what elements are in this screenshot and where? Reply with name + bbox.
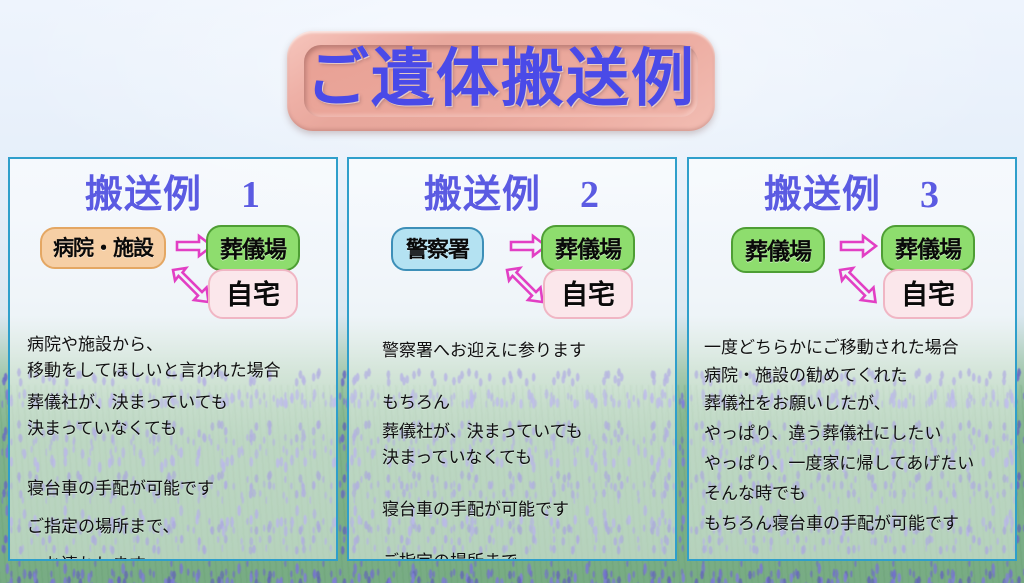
panel-1-flow-diagram: 病院・施設 葬儀場 自宅 — [10, 221, 336, 326]
body-line: 寝台車の手配が可能です — [27, 476, 336, 502]
panel-2-heading: 搬送例 2 — [349, 176, 675, 214]
arrow-down-right-icon — [837, 266, 883, 308]
arrow-right-icon — [839, 233, 879, 259]
body-line: そんな時でも — [704, 480, 1015, 508]
panel-1-heading: 搬送例 1 — [10, 176, 336, 214]
body-line: 葬儀社が、決まっていても — [27, 390, 336, 416]
body-line: やっぱり、一度家に帰してあげたい — [704, 450, 1015, 478]
body-line: 病院・施設の勧めてくれた — [704, 362, 1015, 390]
badge-dest-home: 自宅 — [883, 269, 973, 319]
body-line: やっぱり、違う葬儀社にしたい — [704, 420, 1015, 448]
body-line: 決まっていなくても — [382, 445, 675, 471]
body-line: 一度どちらかにご移動された場合 — [704, 334, 1015, 362]
title-plate: ご遺体搬送例 — [287, 31, 715, 131]
badge-source-hospital: 病院・施設 — [40, 227, 166, 269]
panel-3-heading: 搬送例 3 — [689, 176, 1015, 214]
badge-dest-funeral-hall: 葬儀場 — [206, 225, 300, 271]
body-line: 病院や施設から、 — [27, 332, 336, 358]
body-line: 決まっていなくても — [27, 416, 336, 442]
body-line: 寝台車の手配が可能です — [382, 497, 675, 523]
panel-1-body: 病院や施設から、 移動をしてほしいと言われた場合 葬儀社が、決まっていても 決ま… — [27, 332, 336, 561]
badge-dest-home: 自宅 — [208, 269, 298, 319]
body-line: 警察署へお迎えに参ります — [382, 338, 675, 364]
badge-source-funeral-hall: 葬儀場 — [731, 227, 825, 273]
body-line: もちろん — [382, 390, 675, 416]
badge-dest-funeral-hall: 葬儀場 — [881, 225, 975, 271]
page-title: ご遺体搬送例 — [306, 48, 696, 115]
slide-canvas: ご遺体搬送例 搬送例 1 病院・施設 葬儀場 自宅 病院や施設から、 移動をして… — [0, 0, 1024, 583]
body-line: ご指定の場所まで、 — [27, 514, 336, 540]
panel-3-flow-diagram: 葬儀場 葬儀場 自宅 — [689, 221, 1015, 326]
body-line: ご指定の場所まで、 — [382, 549, 675, 561]
transport-example-panel-2: 搬送例 2 警察署 葬儀場 自宅 警察署へお迎えに参ります もちろん 葬儀社が、… — [347, 157, 677, 561]
body-line: 葬儀社をお願いしたが、 — [704, 390, 1015, 418]
panel-3-body: 一度どちらかにご移動された場合 病院・施設の勧めてくれた 葬儀社をお願いしたが、… — [704, 334, 1015, 538]
panel-2-body: 警察署へお迎えに参ります もちろん 葬儀社が、決まっていても 決まっていなくても… — [382, 338, 675, 561]
body-line: お連れします — [27, 552, 336, 561]
badge-dest-home: 自宅 — [543, 269, 633, 319]
body-line: 葬儀社が、決まっていても — [382, 419, 675, 445]
transport-example-panel-1: 搬送例 1 病院・施設 葬儀場 自宅 病院や施設から、 移動をしてほしいと言われ… — [8, 157, 338, 561]
panel-2-flow-diagram: 警察署 葬儀場 自宅 — [349, 221, 675, 326]
badge-source-police-station: 警察署 — [391, 227, 484, 271]
body-line: 移動をしてほしいと言われた場合 — [27, 358, 336, 384]
transport-example-panel-3: 搬送例 3 葬儀場 葬儀場 自宅 一度どちらかにご移動された場合 病院・施設の勧… — [687, 157, 1017, 561]
badge-dest-funeral-hall: 葬儀場 — [541, 225, 635, 271]
body-line: もちろん寝台車の手配が可能です — [704, 510, 1015, 538]
